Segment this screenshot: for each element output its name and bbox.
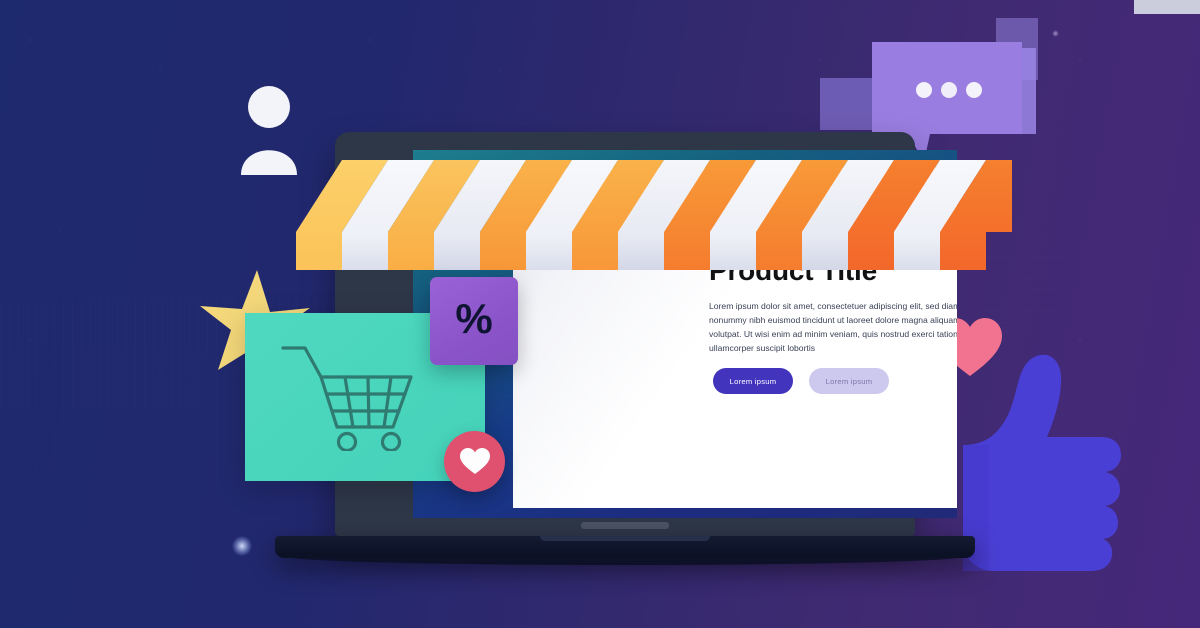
discount-badge: % [430,277,518,365]
thumbs-up-icon [955,345,1125,575]
glow-dot-1 [232,536,252,556]
heart-icon [460,448,490,475]
illustration-canvas: Stock Product Title Lorem ipsum dolor si… [0,0,1200,628]
laptop-camera-notch [581,522,669,529]
percent-icon: % [455,298,492,340]
laptop-foot-shadow [283,556,967,565]
favorite-badge[interactable] [444,431,505,492]
glow-dot-3 [1052,30,1059,37]
laptop-base [275,536,975,558]
product-description: Lorem ipsum dolor sit amet, consectetuer… [709,300,957,356]
primary-cta-button[interactable]: Lorem ipsum [713,368,793,394]
glow-dot-4 [1134,0,1200,14]
secondary-cta-button[interactable]: Lorem ipsum [809,368,889,394]
card-button-row: Lorem ipsum Lorem ipsum [713,368,889,394]
shopping-cart-icon [281,341,419,451]
shop-awning [284,140,1012,270]
